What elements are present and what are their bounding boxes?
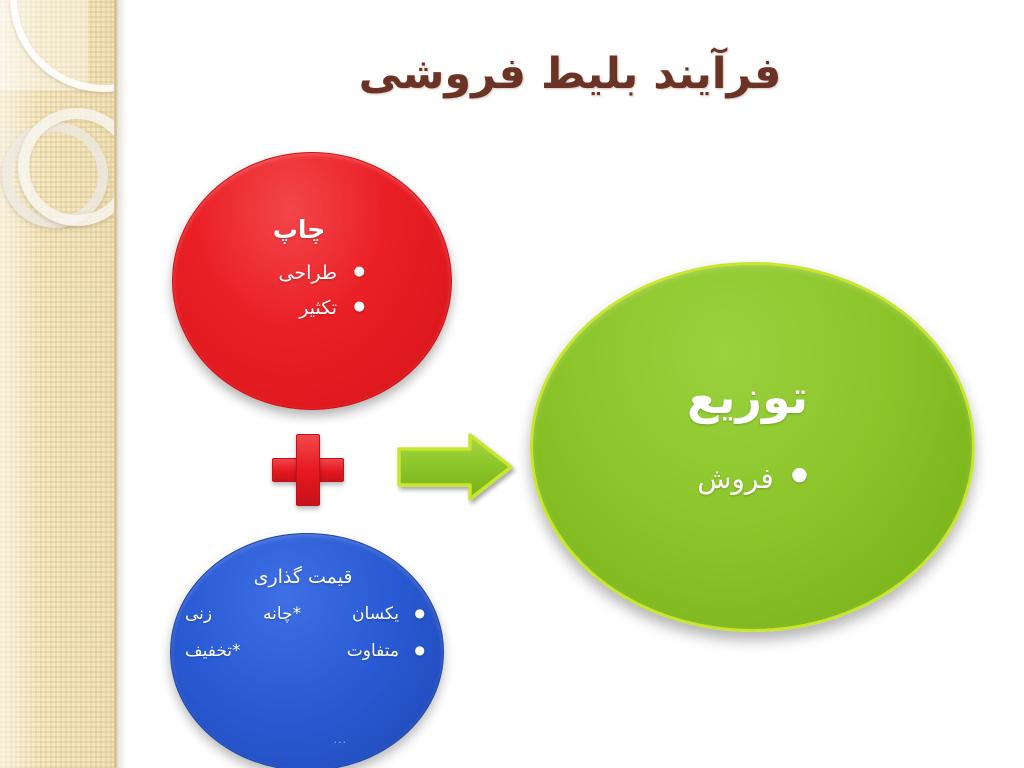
sidebar-drop-shadow — [118, 0, 127, 768]
shape-distribution-ellipse[interactable]: توزیع فروش — [530, 262, 975, 632]
slide-canvas: فرآیند بلیط فروشی چاپ طراحی تکثیر قیمت گ… — [0, 0, 1024, 768]
plus-icon — [272, 434, 344, 506]
list-item: فروش — [697, 462, 808, 495]
list-item: تکثیر — [173, 297, 365, 319]
shape-pricing-ellipse[interactable]: قیمت گذاری یکسان *چانه زنی متفاوت *تخفیف… — [170, 533, 444, 768]
right-arrow-icon — [396, 432, 514, 502]
list-item: متفاوت *تخفیف — [185, 639, 425, 665]
shape-distribution-bullets: فروش — [533, 462, 972, 495]
list-item: طراحی — [173, 262, 365, 284]
page-title: فرآیند بلیط فروشی — [140, 48, 1000, 102]
list-item: یکسان *چانه زنی — [185, 602, 425, 628]
shape-print-bullets: طراحی تکثیر — [173, 262, 451, 319]
decorative-sidebar — [0, 0, 118, 768]
shape-print-heading: چاپ — [173, 215, 451, 244]
shape-pricing-bullets: یکسان *چانه زنی متفاوت *تخفیف — [171, 602, 443, 664]
shape-print-circle[interactable]: چاپ طراحی تکثیر — [172, 152, 452, 410]
shape-pricing-faded-note: ... — [334, 733, 348, 746]
shape-distribution-heading: توزیع — [533, 370, 972, 424]
plus-icon-vertical-bar — [296, 434, 320, 506]
shape-pricing-heading: قیمت گذاری — [171, 566, 443, 588]
right-arrow-shape — [399, 435, 511, 499]
